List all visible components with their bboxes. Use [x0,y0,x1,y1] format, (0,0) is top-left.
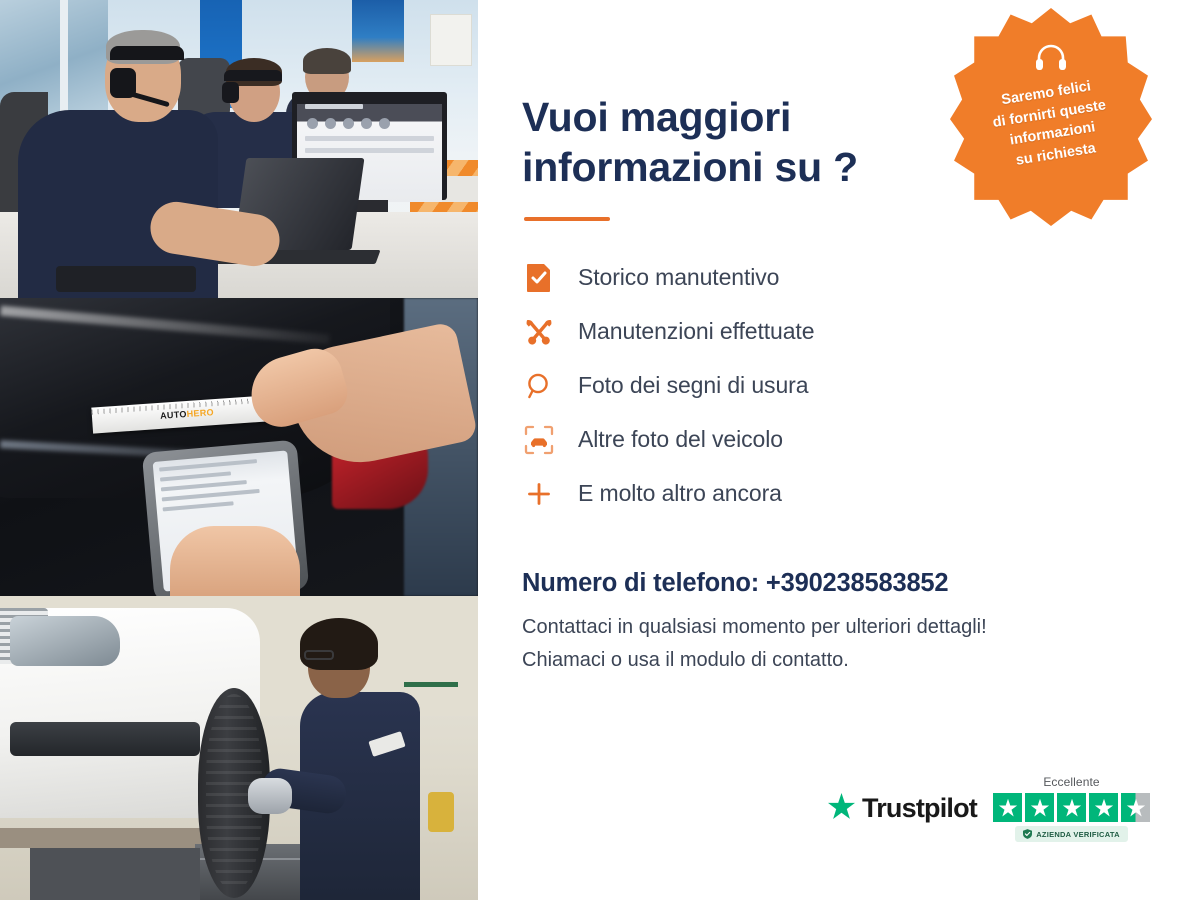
list-item-label: Altre foto del veicolo [578,426,783,453]
car-scan-frame-icon [522,423,556,457]
feature-list: Storico manutentivo Manutenzi [522,251,1200,521]
badge-content: Saremo felici di fornirti queste informa… [950,8,1152,226]
trustpilot-rating: Eccellente [993,775,1150,842]
headset-band-shape [110,46,184,60]
mechanic-hair-shape [300,618,378,670]
tablet-row-shape [163,501,234,511]
headset-icon [1034,42,1068,79]
trustpilot-widget[interactable]: Trustpilot Eccellente [828,775,1150,842]
trustpilot-star-icon [828,793,855,824]
document-check-icon [522,261,556,295]
mechanic-glasses-shape [304,650,334,660]
star-rating [993,793,1150,822]
trustpilot-wordmark: Trustpilot [862,793,977,824]
list-item: Manutenzioni effettuate [522,305,1200,359]
screen-row-shape [305,148,434,153]
tablet-row-shape [160,471,231,481]
car-inspection-ruler-photo: AUTOHERO [0,298,478,596]
list-item-label: Foto dei segni di usura [578,372,808,399]
content-panel: Vuoi maggiori informazioni su ? Storico … [478,0,1200,900]
workshop-detail-shape [404,682,458,687]
phone-number-text[interactable]: Numero di telefono: +390238583852 [522,569,1200,598]
contact-line-2: Chiamaci o usa il modulo di contatto. [522,645,1200,676]
car-lower-grille-shape [10,722,200,756]
workshop-detail-shape [428,792,454,832]
star-half-icon [1121,793,1150,822]
rating-label: Eccellente [1043,775,1099,789]
list-item-label: Storico manutentivo [578,264,779,291]
screen-row-shape [305,136,434,141]
list-item: E molto altro ancora [522,467,1200,521]
title-divider [524,217,610,221]
car-headlight-shape [10,616,120,666]
contact-line-1: Contattaci in qualsiasi momento per ulte… [522,612,1200,643]
screen-icon-row-shape [307,118,432,129]
star-filled-icon [1025,793,1054,822]
shield-check-icon [1023,829,1032,839]
tablet-row-shape [159,459,257,472]
trustpilot-logo[interactable]: Trustpilot [828,793,977,824]
headset-band-shape [224,70,282,81]
tablet-row-shape [162,489,260,502]
status-badge: AZIENDA VERIFICATA [1015,826,1128,842]
screen-row-shape [305,104,363,109]
desk-tablet-shape [56,266,196,292]
tablet-row-shape [161,480,247,491]
list-item: Altre foto del veicolo [522,413,1200,467]
promo-starburst-badge: Saremo felici di fornirti queste informa… [950,8,1152,226]
star-filled-icon [1089,793,1118,822]
contact-info-banner: AUTOHERO [0,0,1200,900]
agent-hair-shape [303,48,351,74]
badge-text: Saremo felici di fornirti queste informa… [966,71,1137,177]
list-item: Foto dei segni di usura [522,359,1200,413]
star-filled-icon [1057,793,1086,822]
list-item-label: Manutenzioni effettuate [578,318,814,345]
wall-poster-shape [352,0,404,62]
page-title: Vuoi maggiori informazioni su ? [522,92,942,193]
ruler-brand-text: AUTOHERO [160,407,214,421]
plus-icon [522,477,556,511]
headset-earcup-shape [222,82,239,103]
call-center-agents-photo [0,0,478,298]
mechanic-glove-shape [248,778,292,814]
wrench-screwdriver-icon [522,315,556,349]
photo-strip: AUTOHERO [0,0,478,900]
list-item-label: E molto altro ancora [578,480,782,507]
magnifier-icon [522,369,556,403]
list-item: Storico manutentivo [522,251,1200,305]
mechanic-wheel-lift-photo [0,596,478,900]
wall-paper-shape [430,14,472,66]
star-filled-icon [993,793,1022,822]
verified-label: AZIENDA VERIFICATA [1036,830,1120,839]
car-lift-shape [30,848,200,900]
inspector-hand-shape [170,526,300,596]
